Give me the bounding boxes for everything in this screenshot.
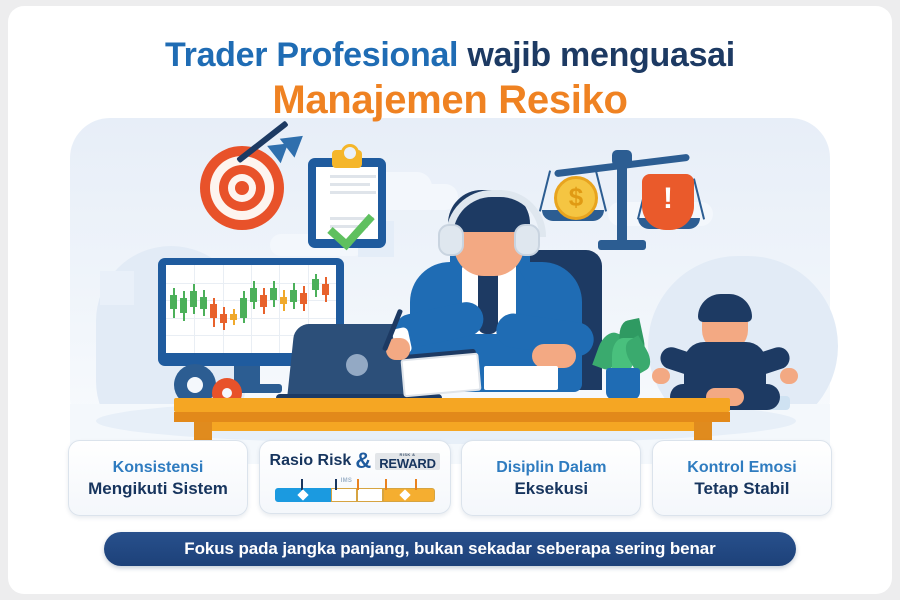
card-disiplin[interactable]: Disiplin Dalam Eksekusi: [461, 440, 641, 516]
card-line-2: Mengikuti Sistem: [88, 478, 228, 500]
background-square: [100, 271, 134, 305]
clipboard-checklist-icon: [308, 148, 386, 248]
notepad: [400, 353, 481, 398]
warning-shield-icon: !: [642, 174, 694, 230]
title-line-1: Trader Profesional wajib menguasai: [8, 34, 892, 76]
card-kontrol-emosi[interactable]: Kontrol Emosi Tetap Stabil: [652, 440, 832, 516]
title-highlight: Trader Profesional: [165, 36, 458, 74]
reward-badge-label: REWARD: [379, 457, 436, 470]
slider-neutral-segment: [331, 488, 357, 502]
target-dartboard-icon: [200, 146, 284, 230]
potted-plant-icon: [594, 316, 652, 400]
risk-reward-label: Rasio Risk: [270, 452, 352, 470]
card-line-2: Tetap Stabil: [694, 478, 789, 500]
laptop-logo: [346, 354, 368, 376]
bottom-banner: Fokus pada jangka panjang, bukan sekadar…: [104, 532, 796, 566]
desk-illustration: [174, 398, 730, 412]
page-title: Trader Profesional wajib menguasai Manaj…: [8, 34, 892, 124]
paper-sheet: [484, 366, 558, 390]
title-rest: wajib menguasai: [467, 36, 735, 74]
card-line-1: Kontrol Emosi: [687, 457, 796, 478]
title-line-2: Manajemen Resiko: [8, 76, 892, 124]
poster-canvas: Trader Profesional wajib menguasai Manaj…: [8, 6, 892, 594]
card-line-2: Eksekusi: [514, 478, 588, 500]
desk-rail: [194, 422, 712, 431]
desk-edge: [174, 412, 730, 422]
card-line-1: Konsistensi: [113, 457, 204, 478]
slider-neutral-segment: [357, 488, 383, 502]
meditating-person-illustration: [650, 292, 800, 410]
card-line-1: Disiplin Dalam: [496, 457, 606, 478]
card-rasio-risk-reward[interactable]: Rasio Risk & RISK & REWARD IMS: [259, 440, 451, 514]
trader-person-illustration: [388, 188, 618, 406]
principle-cards: Konsistensi Mengikuti Sistem Rasio Risk …: [68, 440, 832, 518]
reward-badge: RISK & REWARD: [375, 453, 440, 470]
ampersand-glyph: &: [355, 448, 371, 474]
risk-reward-slider[interactable]: IMS: [275, 485, 435, 501]
banner-text: Fokus pada jangka panjang, bukan sekadar…: [184, 539, 715, 559]
risk-reward-heading: Rasio Risk & RISK & REWARD: [270, 448, 440, 474]
slider-small-label: IMS: [341, 478, 353, 484]
card-konsistensi[interactable]: Konsistensi Mengikuti Sistem: [68, 440, 248, 516]
